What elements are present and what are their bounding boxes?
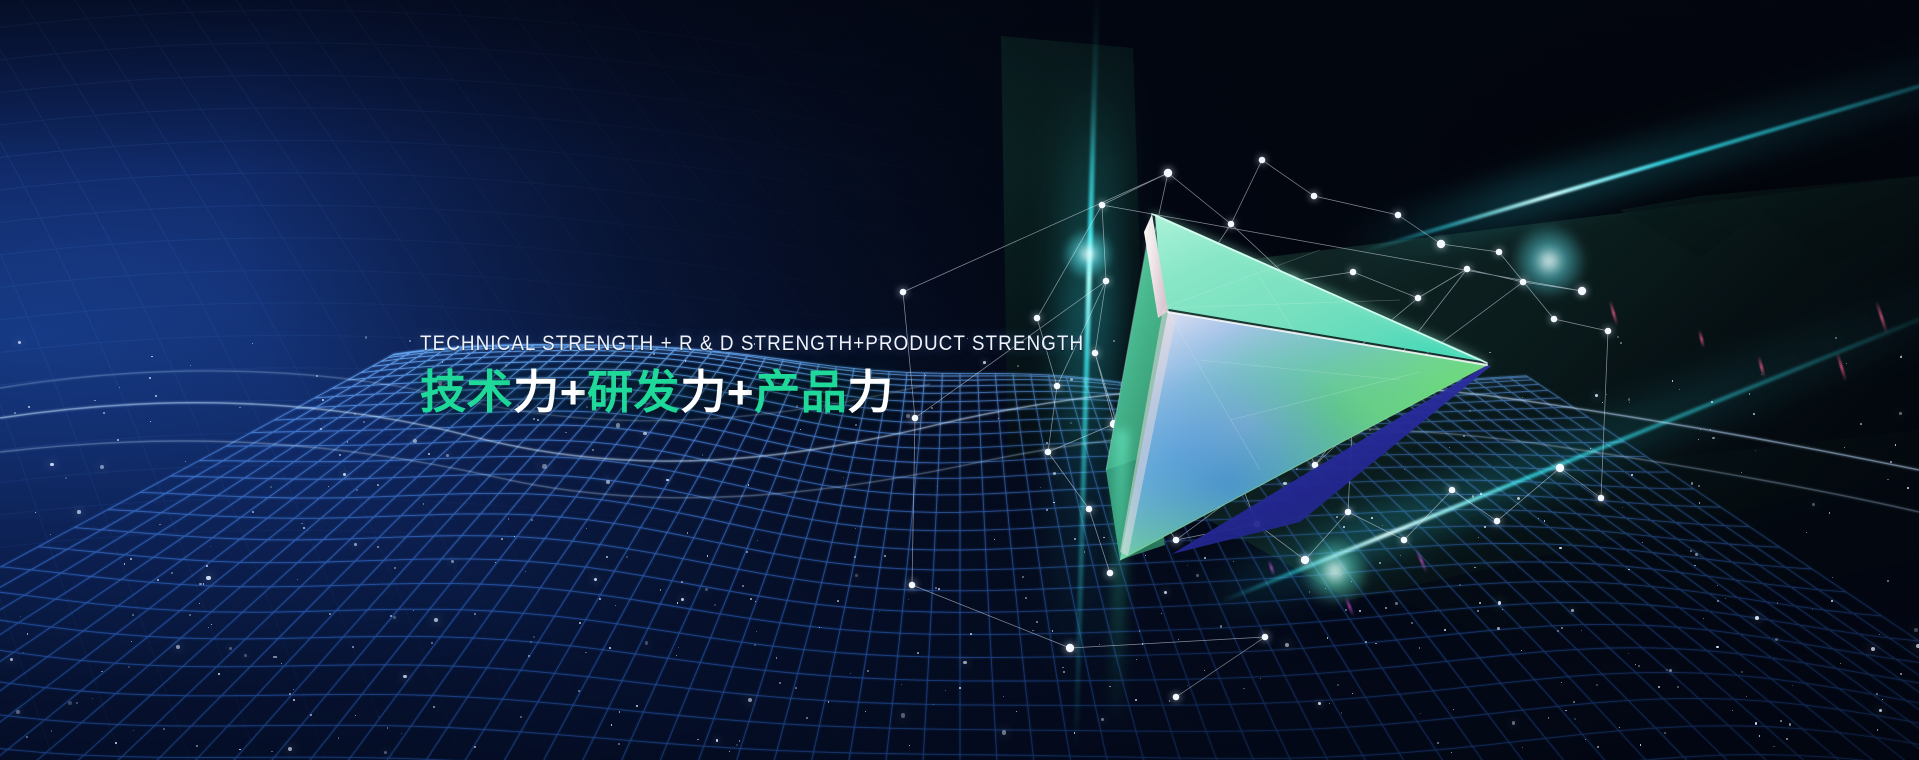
hero-banner: TECHNICAL STRENGTH + R & D STRENGTH+PROD… (0, 0, 1919, 760)
vignette (0, 0, 1919, 760)
